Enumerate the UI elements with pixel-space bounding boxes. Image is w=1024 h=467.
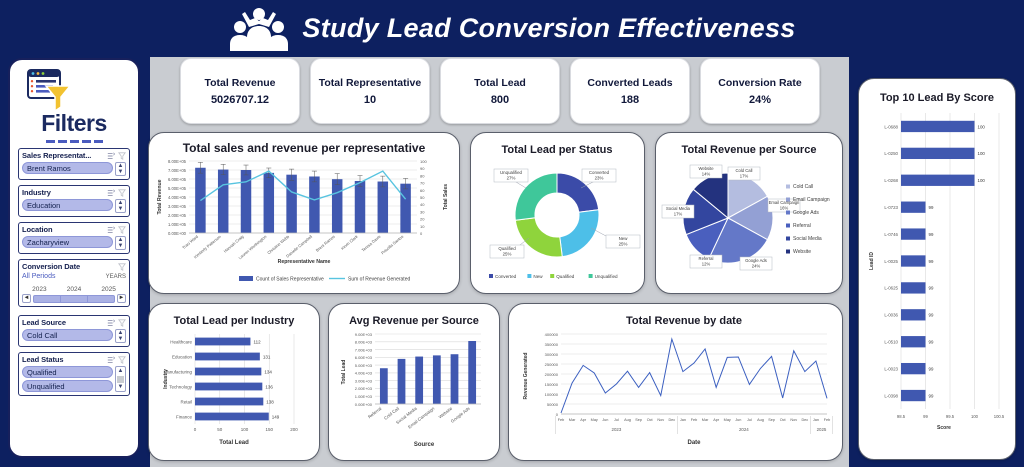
category-label: L-0625 (884, 286, 898, 291)
svg-text:300000: 300000 (545, 352, 559, 357)
svg-text:7.00E+03: 7.00E+03 (355, 347, 373, 352)
legend-label: Email Campaign (793, 197, 830, 203)
timeline-next-button[interactable]: ► (117, 294, 126, 303)
month-label: Jan (813, 418, 819, 422)
month-label: Sep (635, 418, 642, 422)
svg-text:3.00E+03: 3.00E+03 (355, 378, 373, 383)
bar (901, 336, 926, 347)
svg-text:4.00E+05: 4.00E+05 (168, 195, 187, 200)
svg-text:Total Revenue: Total Revenue (157, 179, 163, 214)
chart-card-top-10-lead-by-score[interactable]: Top 10 Lead By Score98.59999.5100100.510… (858, 78, 1016, 460)
bar (286, 175, 296, 233)
svg-text:0: 0 (556, 412, 559, 417)
category-label: Hannah Craig (223, 234, 245, 254)
bar-value: 99 (929, 366, 934, 371)
bar (332, 179, 342, 233)
svg-text:3.00E+05: 3.00E+05 (168, 204, 187, 209)
bar-value: 99 (929, 259, 934, 264)
svg-text:100000: 100000 (545, 392, 559, 397)
svg-text:9.00E+03: 9.00E+03 (355, 332, 373, 337)
slicer-body: Cold Call ▲▼ (22, 329, 126, 343)
chart-title: Top 10 Lead By Score (880, 92, 994, 104)
bar (901, 121, 975, 132)
bar (901, 175, 975, 186)
slicer-options: Brent Ramos (22, 162, 113, 176)
bar (195, 368, 261, 376)
slice-value: 25% (503, 252, 512, 257)
bar-value: 99 (929, 205, 934, 210)
bar (309, 176, 319, 233)
slice-label: Converted (589, 170, 610, 175)
industry-bar-chart: Total Lead per Industry050100150200112He… (149, 304, 319, 460)
svg-text:90: 90 (420, 166, 425, 171)
pie-chart: Total Revenue per SourceCold Call17%Emai… (656, 133, 842, 293)
svg-text:150000: 150000 (545, 382, 559, 387)
svg-text:100: 100 (971, 414, 979, 419)
category-label: Brent Ramos (315, 234, 336, 253)
svg-text:98.5: 98.5 (897, 414, 906, 419)
slicer-options: Cold Call (22, 329, 113, 343)
filters-divider (16, 140, 132, 143)
year-label: 2025 (817, 427, 827, 432)
page-title: Study Lead Conversion Effectiveness (302, 13, 795, 44)
legend-label: Google Ads (793, 210, 819, 216)
slice-value: 14% (702, 172, 711, 177)
bar (400, 184, 410, 233)
category-label: Traci Ward (181, 234, 199, 250)
timeline-tick: 2023 (32, 286, 46, 293)
slicer-title: Lead Status (22, 355, 63, 364)
slice-value: 17% (674, 212, 683, 217)
kpi-value: 10 (364, 94, 376, 106)
bar (901, 363, 926, 374)
kpi-value: 24% (749, 94, 771, 106)
clear-filter-icon[interactable] (118, 226, 126, 234)
legend-label: Website (793, 249, 811, 255)
category-label: Finance (176, 414, 193, 419)
slicer-options: Education (22, 199, 113, 213)
category-label: Education (172, 354, 193, 359)
bar-value: 112 (253, 339, 261, 344)
bar (195, 398, 263, 406)
multi-select-icon[interactable] (107, 356, 115, 364)
kpi-value: 800 (491, 94, 509, 106)
month-label: Jan (680, 418, 686, 422)
category-label: L-0723 (884, 205, 898, 210)
slicer-icons (107, 152, 126, 160)
slicer-header: Location (22, 225, 126, 234)
category-label: L-0025 (884, 259, 898, 264)
slice-label: Unqualified (500, 170, 523, 175)
avg-revenue-bar-chart: Avg Revenue per Source0.00E+001.00E+032.… (329, 304, 499, 460)
clear-filter-icon[interactable] (118, 356, 126, 364)
slice-label: New (619, 236, 629, 241)
svg-text:200000: 200000 (545, 372, 559, 377)
svg-text:8.00E+03: 8.00E+03 (355, 340, 373, 345)
month-label: Mar (569, 418, 576, 422)
category-label: L-0398 (884, 393, 898, 398)
svg-text:50000: 50000 (547, 402, 559, 407)
year-label: 2024 (739, 427, 749, 432)
chart-card-total-revenue-per-source[interactable]: Total Revenue per SourceCold Call17%Emai… (655, 132, 843, 294)
legend-label: Unqualified (595, 274, 618, 279)
bar (415, 357, 423, 404)
month-label: Jun (735, 418, 741, 422)
slicer-scrollbar[interactable]: ▲▼ (115, 366, 126, 392)
slicer-option[interactable]: Unqualified (22, 380, 113, 392)
month-label: May (591, 418, 598, 422)
svg-text:80: 80 (420, 173, 425, 178)
slicer-option[interactable]: Education (22, 199, 113, 211)
line-series (200, 171, 405, 201)
bar-value: 100 (978, 178, 986, 183)
bar (264, 173, 274, 233)
slicer-scroll-spinner[interactable]: ▲▼ (115, 199, 126, 213)
svg-text:6.00E+05: 6.00E+05 (168, 177, 187, 182)
svg-text:60: 60 (420, 188, 425, 193)
top10-bar-chart: Top 10 Lead By Score98.59999.5100100.510… (859, 79, 1015, 459)
svg-text:7.00E+05: 7.00E+05 (168, 168, 187, 173)
bar (901, 309, 926, 320)
bar (195, 413, 269, 421)
category-label: Technology (169, 384, 193, 389)
month-label: Jul (614, 418, 619, 422)
legend-label: Referral (793, 223, 811, 229)
clear-filter-icon[interactable] (118, 189, 126, 197)
legend-label: New (533, 274, 543, 279)
timeline-tick: 2024 (67, 286, 81, 293)
slicer-option[interactable]: Qualified (22, 366, 113, 378)
kpi-label: Converted Leads (587, 77, 672, 89)
bar-value: 99 (929, 232, 934, 237)
svg-text:50: 50 (217, 427, 223, 432)
bar-value: 99 (929, 286, 934, 291)
month-label: Dec (801, 418, 808, 422)
slicer-option[interactable]: Cold Call (22, 329, 113, 341)
slice-value: 25% (619, 242, 628, 247)
legend-label: Count of Sales Representative (256, 277, 324, 283)
bar (195, 353, 260, 361)
slicer-title: Sales Representat... (22, 151, 91, 160)
legend-label: Qualified (556, 274, 575, 279)
svg-text:2.00E+03: 2.00E+03 (355, 386, 373, 391)
slicer-title: Location (22, 225, 52, 234)
chart-card-total-lead-per-industry[interactable]: Total Lead per Industry050100150200112He… (148, 303, 320, 461)
bar (195, 383, 262, 391)
slicer-scroll-spinner[interactable]: ▲▼ (115, 162, 126, 176)
bar (378, 182, 388, 233)
slicer-body: Brent Ramos ▲▼ (22, 162, 126, 176)
slice-value: 27% (507, 176, 516, 181)
kpi-row: Total Revenue 5026707.12 Total Represent… (180, 58, 820, 124)
category-label: L-0746 (884, 232, 898, 237)
bar (451, 354, 459, 404)
category-label: L-0036 (884, 313, 898, 318)
slicer-title: Conversion Date (22, 262, 80, 271)
slicer-header: Lead Status (22, 355, 126, 364)
line-series (561, 339, 827, 413)
chart-title: Total Lead per Industry (174, 315, 296, 327)
slicer-header: Industry (22, 188, 126, 197)
slice-label: Google Ads (745, 258, 767, 263)
timeline-ticks: 2023 2024 2025 (22, 286, 126, 293)
bar (398, 359, 406, 404)
slicer-header: Lead Source (22, 318, 126, 327)
svg-text:100: 100 (420, 159, 427, 164)
slicer-body: Zacharyview ▲▼ (22, 236, 126, 250)
bar-value: 99 (929, 393, 934, 398)
bar-value: 100 (978, 151, 986, 156)
kpi-converted-leads: Converted Leads 188 (570, 58, 690, 124)
svg-text:Score: Score (937, 425, 951, 431)
month-label: Dec (668, 418, 675, 422)
slicer-sales-representative[interactable]: Sales Representat... Brent Ramos ▲▼ (18, 148, 130, 180)
bar-value: 100 (978, 124, 986, 129)
chart-title: Total Lead per Status (501, 144, 612, 156)
bar (901, 390, 926, 401)
slicer-icons (107, 189, 126, 197)
slice-value: 12% (702, 262, 711, 267)
svg-text:5.00E+05: 5.00E+05 (168, 186, 187, 191)
revenue-line-chart: Total Revenue by date0500001000001500002… (509, 304, 842, 460)
bar (433, 355, 441, 404)
slicer-conversion-date[interactable]: Conversion Date All Periods YEARS 2023 2… (18, 259, 130, 307)
svg-text:Representative Name: Representative Name (278, 259, 331, 265)
month-label: Nov (790, 418, 797, 422)
filters-panel: Filters Sales Representat... Brent Ramos… (8, 58, 140, 458)
category-label: Retail (180, 399, 192, 404)
category-label: Kevin Clark (340, 234, 359, 251)
multi-select-icon[interactable] (107, 152, 115, 160)
month-label: Feb (824, 418, 831, 422)
chart-card-total-revenue-by-date[interactable]: Total Revenue by date0500001000001500002… (508, 303, 843, 461)
filter-funnel-icon (16, 68, 72, 112)
svg-text:5.00E+03: 5.00E+03 (355, 363, 373, 368)
svg-text:70: 70 (420, 181, 425, 186)
kpi-value: 188 (621, 94, 639, 106)
slice-value: 24% (752, 264, 761, 269)
category-label: L-0688 (884, 124, 898, 129)
slice-value: 23% (595, 176, 604, 181)
bar (355, 181, 365, 233)
month-label: Jun (602, 418, 608, 422)
month-label: Aug (624, 418, 631, 422)
svg-text:150: 150 (265, 427, 273, 432)
svg-text:1.00E+05: 1.00E+05 (168, 222, 187, 227)
slicer-body: Education ▲▼ (22, 199, 126, 213)
bar-value: 138 (266, 399, 274, 404)
svg-text:99.5: 99.5 (946, 414, 955, 419)
legend-label: Cold Call (793, 184, 813, 190)
svg-text:0: 0 (420, 231, 423, 236)
slice-label: Referral (699, 256, 714, 261)
month-label: Feb (558, 418, 565, 422)
donut-slice (560, 210, 599, 257)
svg-text:1.00E+03: 1.00E+03 (355, 394, 373, 399)
category-label: Priscilla Santos (380, 234, 404, 255)
slicer-scroll-spinner[interactable]: ▲▼ (115, 236, 126, 250)
timeline-selection-bar[interactable] (33, 295, 115, 303)
slicer-icons (107, 356, 126, 364)
slice-value: 17% (740, 174, 749, 179)
clear-filter-icon[interactable] (118, 152, 126, 160)
slicer-body: Qualified Unqualified ▲▼ (22, 366, 126, 392)
chart-title: Total Revenue per Source (682, 144, 817, 156)
bar-value: 149 (272, 414, 280, 419)
chart-card-avg-revenue-per-source[interactable]: Avg Revenue per Source0.00E+001.00E+032.… (328, 303, 500, 461)
slicer-header: Sales Representat... (22, 151, 126, 160)
month-label: Sep (768, 418, 775, 422)
slicer-icons (118, 263, 126, 271)
svg-text:400000: 400000 (545, 332, 559, 337)
dashboard-header: Study Lead Conversion Effectiveness (0, 0, 1024, 57)
kpi-label: Conversion Rate (718, 77, 801, 89)
kpi-label: Total Lead (474, 77, 526, 89)
kpi-value: 5026707.12 (211, 94, 269, 106)
multi-select-icon[interactable] (107, 319, 115, 327)
clear-filter-icon[interactable] (118, 263, 126, 271)
bar (468, 341, 476, 404)
month-label: Aug (757, 418, 764, 422)
svg-text:250000: 250000 (545, 362, 559, 367)
slicer-industry[interactable]: Industry Education ▲▼ (18, 185, 130, 217)
filters-logo (16, 68, 132, 112)
slice-label: Cold Call (736, 168, 753, 173)
svg-text:Source: Source (414, 442, 435, 448)
clear-filter-icon[interactable] (118, 319, 126, 327)
bar-value: 134 (264, 369, 272, 374)
svg-text:200: 200 (290, 427, 298, 432)
slice-label: Website (698, 166, 714, 171)
svg-text:Revenue Generated: Revenue Generated (523, 353, 529, 400)
category-label: Referral (367, 406, 382, 420)
donut-chart: Total Lead per StatusConverted23%New25%Q… (471, 133, 644, 293)
multi-select-icon[interactable] (107, 226, 115, 234)
slicer-header: Conversion Date (22, 262, 126, 271)
bar-value: 99 (929, 313, 934, 318)
category-label: Healthcare (170, 339, 192, 344)
slice-label: Social Media (666, 206, 691, 211)
chart-title: Total sales and revenue per representati… (183, 141, 426, 155)
slicer-options: Qualified Unqualified (22, 366, 113, 392)
slice-value: 16% (780, 206, 789, 211)
timeline-track[interactable]: ◄ ► (22, 294, 126, 303)
svg-text:0.00E+00: 0.00E+00 (355, 402, 373, 407)
slicer-options: Zacharyview (22, 236, 113, 250)
slicer-option[interactable]: Zacharyview (22, 236, 113, 248)
category-label: Website (438, 406, 454, 420)
category-label: Google Ads (450, 405, 472, 423)
month-label: Feb (691, 418, 698, 422)
month-label: May (724, 418, 731, 422)
bar (901, 255, 926, 266)
month-label: Oct (780, 418, 787, 422)
slicer-icons (107, 226, 126, 234)
slicer-icons (107, 319, 126, 327)
svg-text:Total Sales: Total Sales (443, 184, 449, 210)
svg-text:Industry: Industry (163, 369, 169, 389)
timeline-prev-button[interactable]: ◄ (22, 294, 31, 303)
chart-title: Total Revenue by date (626, 315, 742, 327)
category-label: L-0510 (884, 340, 898, 345)
slicer-option[interactable]: Brent Ramos (22, 162, 113, 174)
slicer-scroll-spinner[interactable]: ▲▼ (115, 329, 126, 343)
svg-text:4.00E+03: 4.00E+03 (355, 371, 373, 376)
month-label: Oct (647, 418, 654, 422)
legend-label: Social Media (793, 236, 822, 242)
kpi-total-representative: Total Representative 10 (310, 58, 430, 124)
slicer-lead-source[interactable]: Lead Source Cold Call ▲▼ (18, 315, 130, 347)
category-label: L-0268 (884, 178, 898, 183)
kpi-conversion-rate: Conversion Rate 24% (700, 58, 820, 124)
people-group-icon (228, 5, 290, 53)
bar (380, 368, 388, 404)
legend-label: Converted (495, 274, 517, 279)
svg-text:Lead ID: Lead ID (869, 252, 875, 270)
month-label: Jul (747, 418, 752, 422)
svg-text:20: 20 (420, 217, 425, 222)
bar (901, 228, 926, 239)
slicer-title: Industry (22, 188, 51, 197)
bar (218, 170, 228, 233)
svg-text:40: 40 (420, 202, 425, 207)
svg-text:Total Lead: Total Lead (219, 440, 249, 446)
svg-text:Total Lead: Total Lead (341, 360, 347, 385)
slicer-lead-status[interactable]: Lead Status Qualified Unqualified ▲▼ (18, 352, 130, 396)
svg-text:10: 10 (420, 224, 425, 229)
timeline-level-label[interactable]: YEARS (106, 274, 126, 280)
bar-value: 136 (265, 384, 273, 389)
svg-text:99: 99 (923, 414, 928, 419)
svg-text:50: 50 (420, 195, 425, 200)
bar-value: 99 (929, 340, 934, 345)
bar (901, 148, 975, 159)
svg-text:2.00E+05: 2.00E+05 (168, 213, 187, 218)
filters-heading: Filters (16, 110, 132, 137)
svg-text:100: 100 (241, 427, 249, 432)
kpi-label: Total Representative (319, 77, 422, 89)
month-label: Nov (657, 418, 664, 422)
svg-text:6.00E+03: 6.00E+03 (355, 355, 373, 360)
month-label: Apr (713, 418, 720, 422)
month-label: Apr (580, 418, 587, 422)
bar (901, 282, 926, 293)
slice-label: Qualified (498, 246, 516, 251)
svg-text:0.00E+00: 0.00E+00 (168, 231, 187, 236)
svg-text:0: 0 (194, 427, 197, 432)
bar-value: 131 (263, 354, 271, 359)
svg-text:350000: 350000 (545, 342, 559, 347)
bar (901, 202, 926, 213)
kpi-label: Total Revenue (205, 77, 276, 89)
svg-text:30: 30 (420, 209, 425, 214)
category-label: Teresa Davis (361, 234, 382, 253)
slicer-location[interactable]: Location Zacharyview ▲▼ (18, 222, 130, 254)
month-label: Mar (702, 418, 709, 422)
multi-select-icon[interactable] (107, 189, 115, 197)
legend-label: Sum of Revenue Generated (348, 277, 410, 283)
timeline-header: All Periods YEARS (22, 273, 126, 280)
svg-text:8.00E+05: 8.00E+05 (168, 159, 187, 164)
chart-card-total-lead-per-status[interactable]: Total Lead per StatusConverted23%New25%Q… (470, 132, 645, 294)
slicer-title: Lead Source (22, 318, 66, 327)
kpi-total-lead: Total Lead 800 (440, 58, 560, 124)
category-label: L-0023 (884, 366, 898, 371)
svg-text:100.5: 100.5 (994, 414, 1005, 419)
bar (195, 338, 250, 346)
chart-title: Avg Revenue per Source (349, 315, 479, 327)
chart-card-total-sales-revenue-per-representative[interactable]: Total sales and revenue per representati… (148, 132, 460, 294)
